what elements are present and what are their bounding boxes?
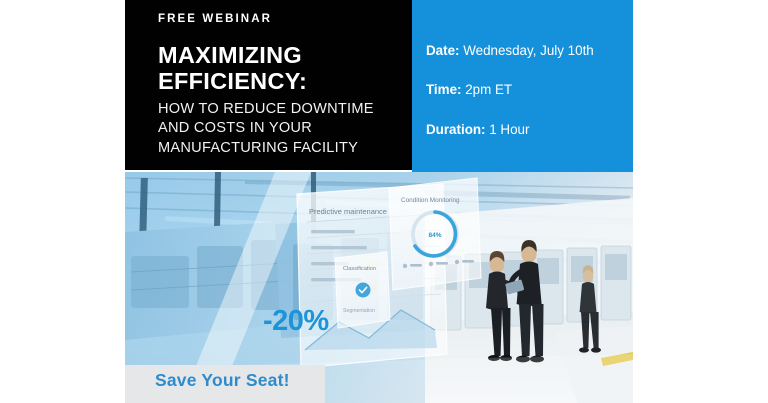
discount-badge: -20% [263,307,329,336]
classification-card-title: Classification [343,266,376,272]
event-duration-row: Duration: 1 Hour [426,123,633,136]
eyebrow-label: FREE WEBINAR [158,14,394,26]
page-subtitle-line2: AND COSTS IN YOUR [158,119,394,138]
event-date-label: Date: [426,43,459,58]
event-time-label: Time: [426,82,461,97]
dashboard-title: Predictive maintenance [309,207,387,216]
event-date-row: Date: Wednesday, July 10th [426,44,633,57]
gauge-label: Condition Monitoring [401,197,460,204]
event-time-row: Time: 2pm ET [426,83,633,96]
classification-card-subtitle: Segmentation [343,308,375,314]
page-subtitle: HOW TO REDUCE DOWNTIME AND COSTS IN YOUR… [158,100,394,158]
header-band: FREE WEBINAR MAXIMIZING EFFICIENCY: HOW … [0,0,768,174]
title-panel: FREE WEBINAR MAXIMIZING EFFICIENCY: HOW … [125,0,412,170]
event-duration-value: 1 Hour [489,122,529,137]
page-title-line1: MAXIMIZING [158,42,394,68]
event-time-value: 2pm ET [465,82,512,97]
event-date-value: Wednesday, July 10th [463,43,594,58]
save-your-seat-button[interactable]: Save Your Seat! [155,372,290,390]
promo-canvas: FREE WEBINAR MAXIMIZING EFFICIENCY: HOW … [0,0,768,403]
page-subtitle-line3: MANUFACTURING FACILITY [158,139,394,158]
gauge-value: 84% [428,232,441,239]
page-subtitle-line1: HOW TO REDUCE DOWNTIME [158,100,394,119]
event-details-panel: Date: Wednesday, July 10th Time: 2pm ET … [412,0,633,173]
page-title-line2: EFFICIENCY: [158,68,394,94]
event-duration-label: Duration: [426,122,486,137]
